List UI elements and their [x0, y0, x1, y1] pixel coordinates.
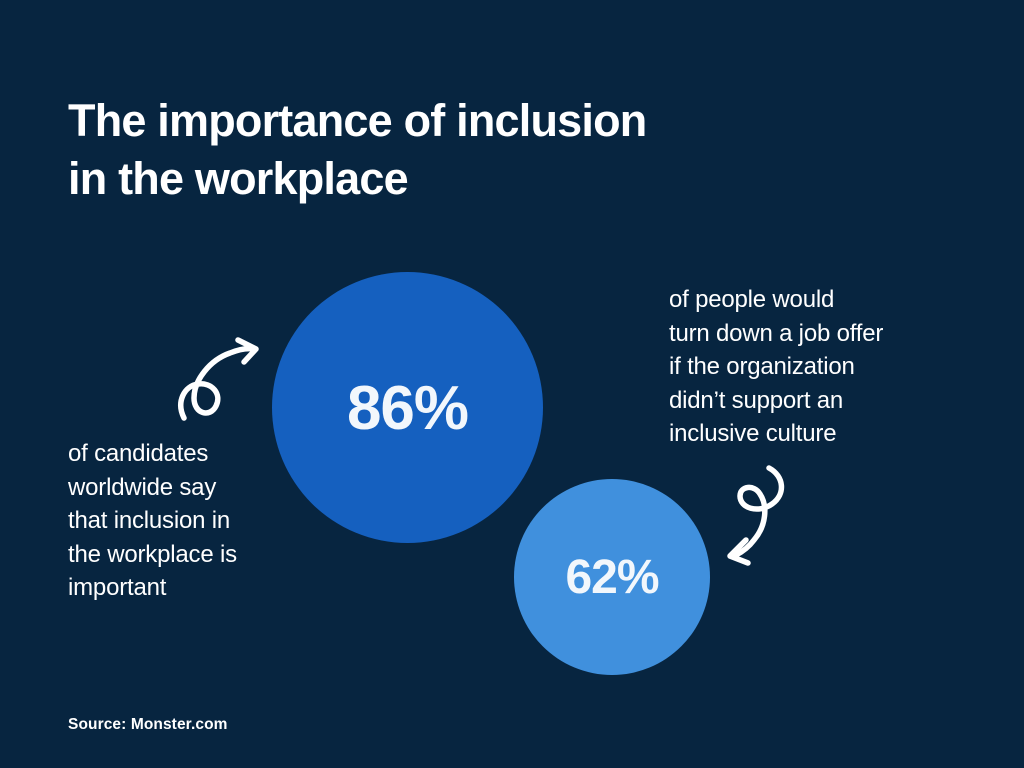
infographic-canvas: The importance of inclusion in the workp… [0, 0, 1024, 768]
source-label: Source: Monster.com [68, 716, 228, 734]
stat-bubble-62: 62% [514, 479, 710, 675]
stat-value-62: 62% [565, 554, 658, 602]
page-title: The importance of inclusion in the workp… [68, 92, 748, 208]
stat-caption-62: of people would turn down a job offer if… [669, 283, 959, 451]
stat-value-86: 86% [347, 378, 468, 440]
stat-caption-86: of candidates worldwide say that inclusi… [68, 437, 318, 605]
